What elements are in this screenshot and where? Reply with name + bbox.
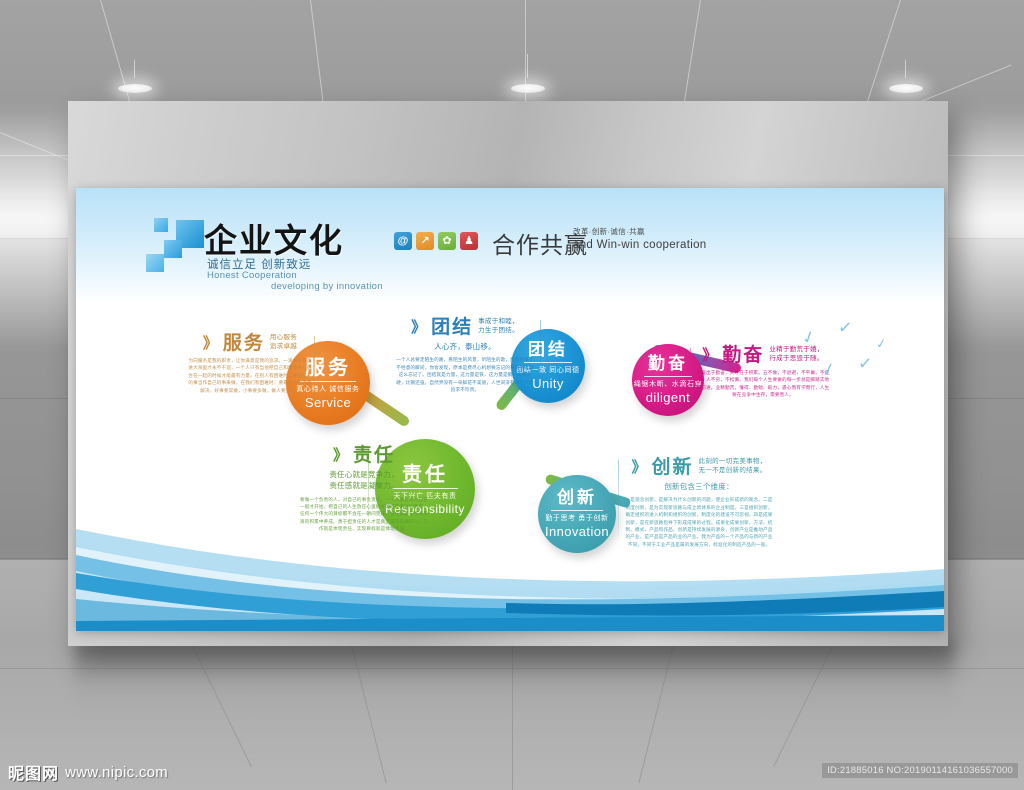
divider xyxy=(690,348,691,422)
watermark-logo: 昵图网 xyxy=(8,760,59,784)
text-block-responsibility-header: 》 责任 xyxy=(298,446,430,465)
watermark-id: ID:21885016 NO:20190114161036557000 xyxy=(822,763,1018,778)
text-block-service: 》 服务 用心服务 追求卓越 为向服务是我的职责，让你满意是我的追求。一滴水只有… xyxy=(188,334,312,394)
circle-diligent-sub: 绳锯木断、水滴石穿 xyxy=(634,379,702,389)
ceiling-light xyxy=(889,84,923,93)
chevron-right-icon: 》 xyxy=(702,348,717,363)
tag-line-1: 事成于和睦， xyxy=(478,318,519,325)
recycle-flower-icon: ✿ xyxy=(438,232,456,250)
text-block-responsibility-title: 责任 xyxy=(353,446,395,465)
chevron-right-icon: 》 xyxy=(333,448,348,463)
chart-icon: ↗ xyxy=(416,232,434,250)
tag-line-2: 无一不是创新的结果。 xyxy=(699,467,767,474)
text-block-responsibility-lead-1: 责任心就是竞争力， xyxy=(298,469,430,480)
blue-squares-logo-icon xyxy=(146,218,206,274)
text-block-unity-title: 团结 xyxy=(431,318,473,337)
divider xyxy=(540,320,541,406)
light-wire xyxy=(527,54,528,78)
text-block-innovation-tag: 此刻的一切完美事物， 无一不是创新的结果。 xyxy=(699,458,767,476)
tag-line-2: 追求卓越 xyxy=(270,343,297,350)
panel-drop-shadow xyxy=(74,640,954,710)
circle-diligent[interactable]: 勤奋 绳锯木断、水滴石穿 diligent xyxy=(632,344,704,416)
slogan-keywords: 改革·创新·诚信·共赢 xyxy=(573,226,645,237)
text-block-innovation-header: 》 创新 此刻的一切完美事物， 无一不是创新的结果。 xyxy=(624,458,774,477)
text-block-service-header: 》 服务 用心服务 追求卓越 xyxy=(188,334,312,353)
tag-line-2: 力生于团结。 xyxy=(478,327,519,334)
circle-unity-en: Unity xyxy=(532,376,564,391)
text-block-service-tag: 用心服务 追求卓越 xyxy=(270,334,297,352)
text-block-unity-tag: 事成于和睦， 力生于团结。 xyxy=(478,318,519,336)
culture-poster: 企业文化 诚信立足 创新致远 Honest Cooperation develo… xyxy=(76,188,944,631)
tag-line-1: 用心服务 xyxy=(270,334,297,341)
text-block-unity: 》 团结 事成于和睦， 力生于团结。 人心齐，泰山移。 一个人总要走陌生的路，看… xyxy=(394,318,536,393)
slogan-en: and Win-win cooperation xyxy=(573,239,706,251)
at-icon: @ xyxy=(394,232,412,250)
watermark-url: www.nipic.com xyxy=(65,764,168,781)
text-block-unity-body: 一个人总要走陌生的路，看陌生的风景，听陌生的歌，然后在某个不经意的瞬间，你会发现… xyxy=(394,356,536,393)
text-block-innovation-lead: 创新包含三个维度： xyxy=(624,481,774,492)
text-block-responsibility-lead-2: 责任感就是凝聚力。 xyxy=(298,480,430,491)
chevron-right-icon: 》 xyxy=(203,336,218,351)
chevron-right-icon: 》 xyxy=(631,460,646,475)
divider xyxy=(644,376,692,377)
header-icon-row: @ ↗ ✿ ♟ xyxy=(394,232,478,250)
person-icon: ♟ xyxy=(460,232,478,250)
circle-diligent-en: diligent xyxy=(646,390,690,405)
circle-diligent-cn: 勤奋 xyxy=(648,355,688,374)
flying-birds-icon: ✓ ✓ ✓ ✓ ✓ xyxy=(788,308,908,388)
text-block-service-body: 为向服务是我的职责，让你满意是我的追求。一滴水只有放进大海里才永不干涸，一个人只… xyxy=(188,357,312,394)
text-block-innovation-title: 创新 xyxy=(652,458,694,477)
watermark: 昵图网 www.nipic.com xyxy=(8,760,168,784)
page-title: 企业文化 xyxy=(204,214,344,262)
brand-subtitle-en-2: developing by innovation xyxy=(271,281,383,292)
chevron-right-icon: 》 xyxy=(411,320,426,335)
text-block-service-title: 服务 xyxy=(223,334,265,353)
divider xyxy=(314,336,315,418)
circle-service-en: Service xyxy=(305,395,351,410)
brand-subtitle-en-1: Honest Cooperation xyxy=(207,270,297,281)
blue-wave-graphic xyxy=(76,511,944,631)
tag-line-1: 此刻的一切完美事物， xyxy=(699,458,767,465)
room-scene: 企业文化 诚信立足 创新致远 Honest Cooperation develo… xyxy=(0,0,1024,790)
light-wire xyxy=(134,60,135,78)
ceiling-light xyxy=(511,84,545,93)
circle-innovation-cn: 创新 xyxy=(557,489,597,508)
light-wire xyxy=(905,60,906,78)
text-block-unity-lead: 人心齐，泰山移。 xyxy=(394,341,536,352)
text-block-diligent-title: 勤奋 xyxy=(722,346,764,365)
ceiling-light xyxy=(118,84,152,93)
text-block-unity-header: 》 团结 事成于和睦， 力生于团结。 xyxy=(394,318,536,337)
